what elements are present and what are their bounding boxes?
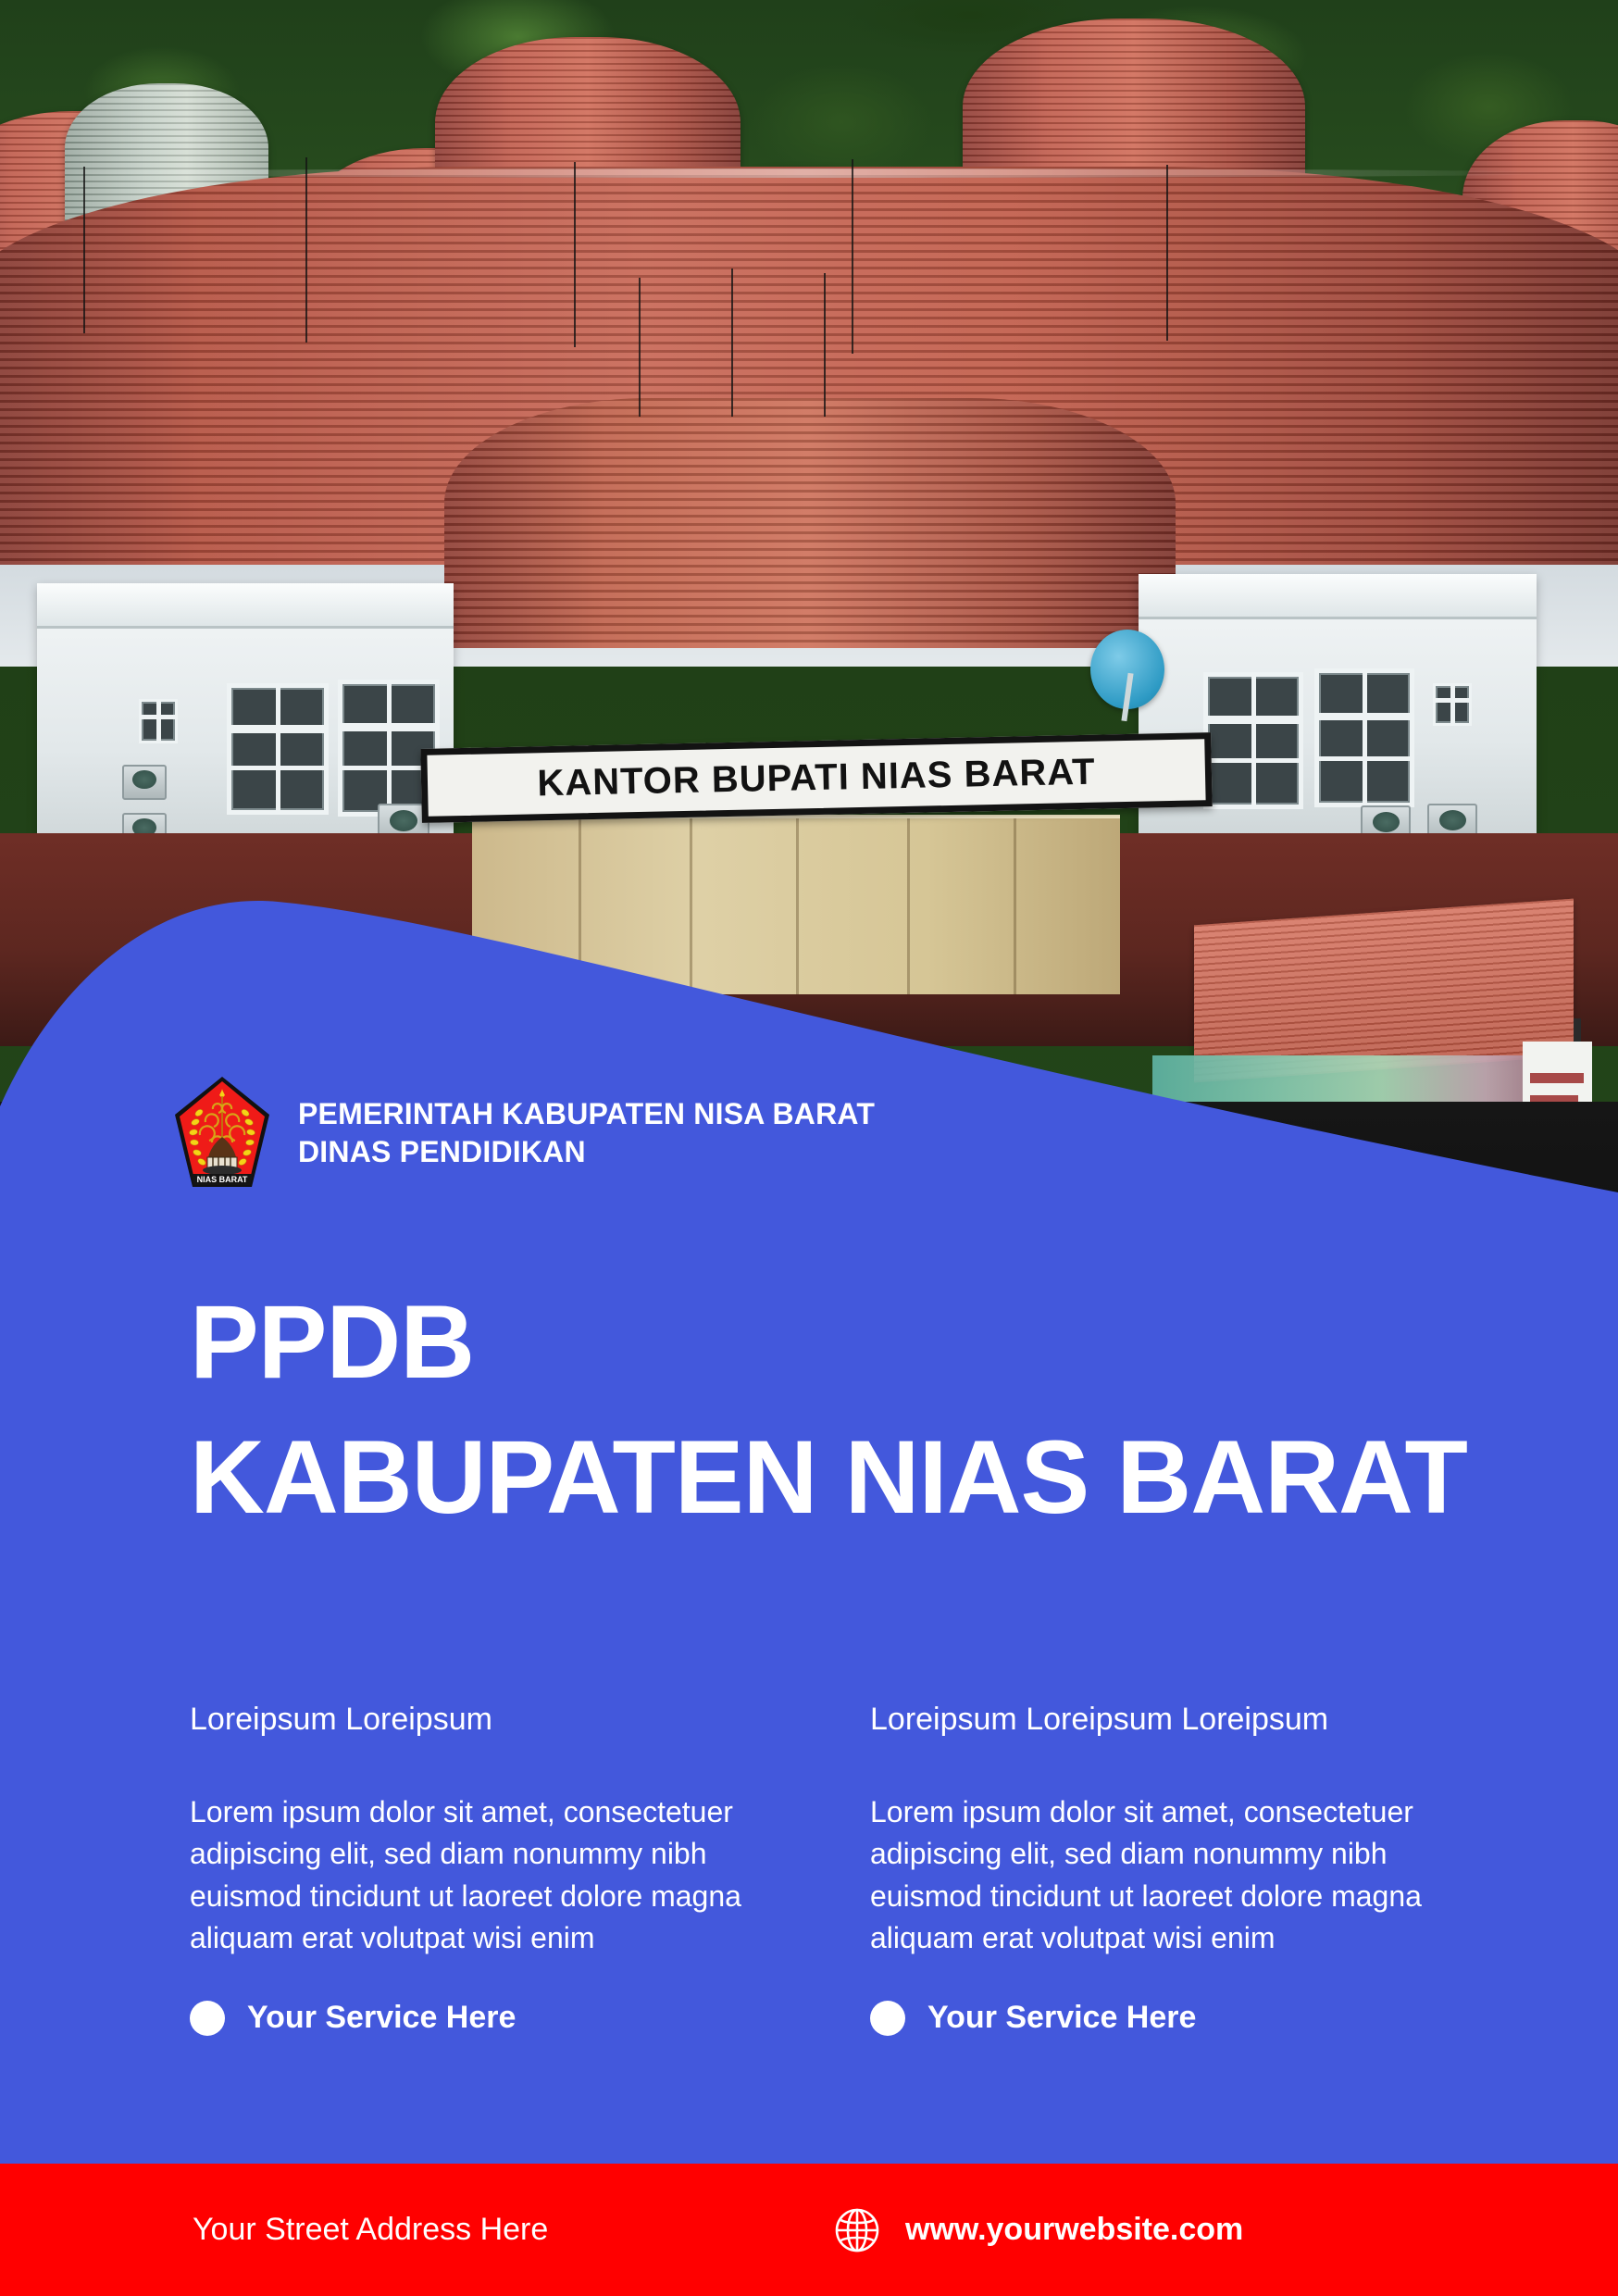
- body-column-right: Loreipsum Loreipsum Loreipsum Lorem ipsu…: [870, 1702, 1467, 1960]
- bullet-dot-icon: [870, 2001, 905, 2036]
- bullet-dot-icon: [190, 2001, 225, 2036]
- brand-text-block: PEMERINTAH KABUPATEN NISA BARAT DINAS PE…: [298, 1095, 875, 1171]
- headline-line-1: PPDB: [190, 1291, 1467, 1393]
- crest-banner-text: NIAS BARAT: [197, 1175, 248, 1184]
- headline-line-2: KABUPATEN NIAS BARAT: [190, 1427, 1467, 1529]
- footer-bar: Your Street Address Here www.yourwebsite…: [0, 2164, 1618, 2296]
- service-item-right[interactable]: Your Service Here: [870, 2000, 1467, 2036]
- column-left-body: Lorem ipsum dolor sit amet, consectetuer…: [190, 1791, 787, 1960]
- service-label-left: Your Service Here: [247, 2000, 516, 2036]
- nias-barat-coat-of-arms-icon: NIAS BARAT: [172, 1074, 272, 1192]
- column-right-subhead: Loreipsum Loreipsum Loreipsum: [870, 1702, 1467, 1738]
- poster-headline: PPDB KABUPATEN NIAS BARAT: [190, 1291, 1467, 1529]
- body-columns: Loreipsum Loreipsum Lorem ipsum dolor si…: [190, 1702, 1467, 1960]
- brand-line-1: PEMERINTAH KABUPATEN NISA BARAT: [298, 1095, 875, 1133]
- column-left-subhead: Loreipsum Loreipsum: [190, 1702, 787, 1738]
- footer-address: Your Street Address Here: [193, 2212, 548, 2248]
- body-column-left: Loreipsum Loreipsum Lorem ipsum dolor si…: [190, 1702, 787, 1960]
- globe-icon: [833, 2206, 881, 2254]
- column-right-body: Lorem ipsum dolor sit amet, consectetuer…: [870, 1791, 1467, 1960]
- service-row: Your Service Here Your Service Here: [190, 2000, 1467, 2036]
- brand-row: NIAS BARAT PEMERINTAH KABUPATEN NISA BAR…: [172, 1074, 875, 1192]
- poster-root: KANTOR BUPATI NIAS BARAT: [0, 0, 1618, 2296]
- service-label-right: Your Service Here: [927, 2000, 1196, 2036]
- footer-website-link[interactable]: www.yourwebsite.com: [833, 2206, 1243, 2254]
- brand-line-2: DINAS PENDIDIKAN: [298, 1133, 875, 1171]
- service-item-left[interactable]: Your Service Here: [190, 2000, 787, 2036]
- footer-website-url: www.yourwebsite.com: [905, 2212, 1243, 2248]
